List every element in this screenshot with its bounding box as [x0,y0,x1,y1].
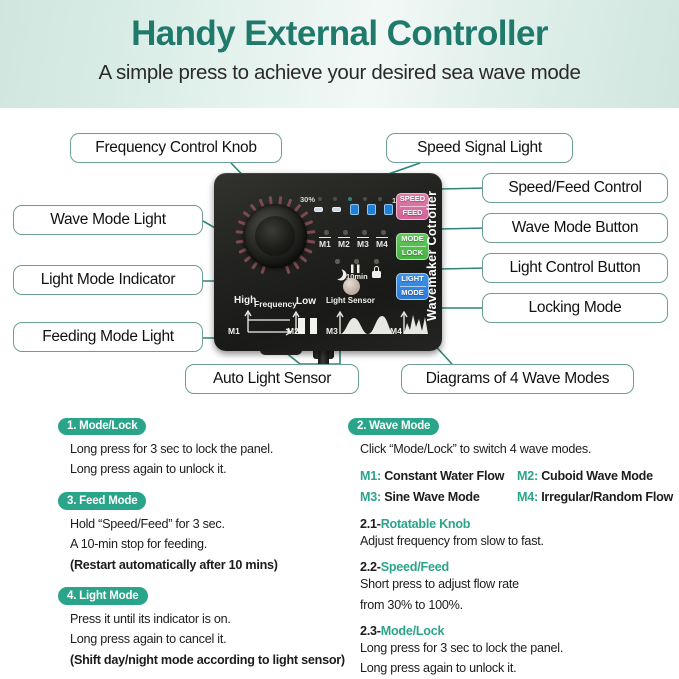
indicator-light-1 [335,259,340,264]
frequency-high-label: High [234,295,256,306]
wave-diagram-label-m4: M4 [390,326,402,336]
callout-label: Wave Mode Light [50,211,166,229]
button-label-top: SPEED [400,194,425,205]
callout-label: Auto Light Sensor [213,370,331,388]
callout-diagrams-of-4-wave-modes[interactable]: Diagrams of 4 Wave Modes [401,364,634,394]
knob-inner-dial [255,216,295,256]
callout-wave-mode-light[interactable]: Wave Mode Light [13,205,203,235]
device-front-panel: 30% 100% M1M2M3M4 ▌▌ 10min Light Sensor … [214,173,442,351]
callout-locking-mode[interactable]: Locking Mode [482,293,668,323]
callout-label: Speed Signal Light [417,139,542,157]
wave-mode-light-m1 [324,230,329,235]
callout-label: Light Mode Indicator [41,271,175,289]
wave-mode-label-m1: M1 [319,237,331,249]
wave-mode-light-m3 [362,230,367,235]
callout-feeding-mode-light[interactable]: Feeding Mode Light [13,322,203,352]
moon-icon [332,268,343,279]
callout-label: Light Control Button [509,259,640,277]
callout-frequency-control-knob[interactable]: Frequency Control Knob [70,133,282,163]
speed-bar-dash [314,207,323,212]
callout-auto-light-sensor[interactable]: Auto Light Sensor [185,364,359,394]
callout-label: Diagrams of 4 Wave Modes [426,370,609,388]
speed-signal-dot [333,197,337,201]
frequency-knob-assembly[interactable] [232,193,318,279]
button-label-bottom: LOCK [402,248,423,259]
button-label-top: MODE [401,234,424,245]
callout-speed-signal-light[interactable]: Speed Signal Light [386,133,573,163]
callout-label: Feeding Mode Light [42,328,174,346]
wave-diagram-label-m2: M2 [287,326,299,336]
callout-label: Locking Mode [529,299,622,317]
callout-label: Frequency Control Knob [95,139,256,157]
indicator-light-3 [374,259,379,264]
callout-wave-mode-button[interactable]: Wave Mode Button [482,213,668,243]
speed-bar-lit [367,204,376,215]
speed-bar-lit [350,204,359,215]
wave-mode-label-m2: M2 [338,237,350,249]
speed-bar-lit [384,204,393,215]
wave-mode-label-m4: M4 [376,237,388,249]
speed-bar-dash [332,207,341,212]
button-label-top: LIGHT [401,274,424,285]
wave-mode-light-m4 [381,230,386,235]
button-label-bottom: MODE [401,288,424,299]
speed-min-label: 30% [300,195,315,204]
callout-label: Wave Mode Button [512,219,638,237]
callout-light-control-button[interactable]: Light Control Button [482,253,668,283]
frequency-control-knob[interactable] [243,204,307,268]
wave-diagram-label-m1: M1 [228,326,240,336]
callout-speed-feed-control[interactable]: Speed/Feed Control [482,173,668,203]
callout-label: Speed/Feed Control [508,179,641,197]
speed-signal-dot [318,197,322,201]
speed-signal-dot [348,197,352,201]
wave-mode-light-m2 [343,230,348,235]
indicator-light-2 [354,259,359,264]
wavemaker-controller-device: 30% 100% M1M2M3M4 ▌▌ 10min Light Sensor … [205,168,445,368]
auto-light-sensor [343,278,360,295]
speed-signal-dot [378,197,382,201]
speed-signal-dot [363,197,367,201]
wave-mode-label-m3: M3 [357,237,369,249]
device-brand-text: Wavemaker Cotroller [425,189,439,321]
lock-icon [372,266,381,278]
wave-diagram-label-m3: M3 [326,326,338,336]
button-label-bottom: FEED [402,208,422,219]
light-sensor-label: Light Sensor [326,296,375,305]
callout-light-mode-indicator[interactable]: Light Mode Indicator [13,265,203,295]
